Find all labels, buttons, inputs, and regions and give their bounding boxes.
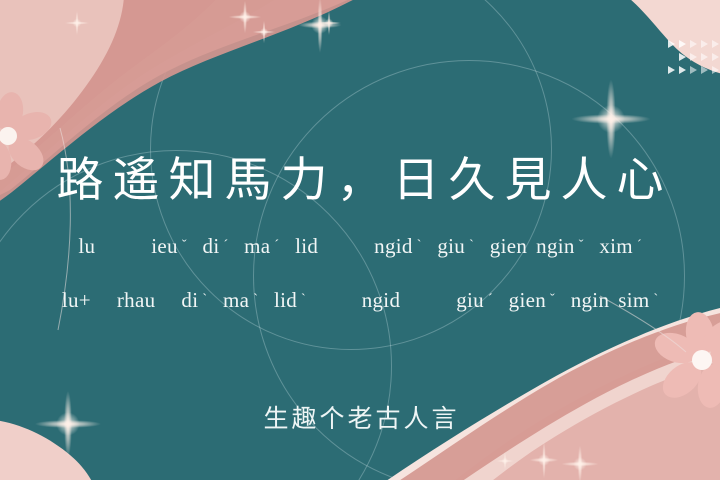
romanization-syllable: maˊ [244,236,279,257]
syllable-base: giu [456,290,484,311]
poster-canvas: 路遙知馬力，日久見人心 luieuˇdiˊmaˊlidngidˋgiuˋgien… [0,0,720,480]
syllable-base: di [181,290,198,311]
tone-mark: ˊ [223,239,228,253]
romanization-syllable: nginˇ [536,236,583,257]
tone-mark: ˊ [637,239,642,253]
syllable-base: gien [509,290,546,311]
tone-mark: ˇ [550,293,555,307]
text-content: 路遙知馬力，日久見人心 luieuˇdiˊmaˊlidngidˋgiuˋgien… [0,0,720,480]
romanization-syllable: ngin [571,290,610,311]
syllable-base: ma [223,290,249,311]
romanization-syllable: gien [490,236,527,257]
romanization-syllable: ieuˇ [151,236,186,257]
syllable-base: lid [274,290,297,311]
romanization-syllable: gienˇ [509,290,555,311]
romanization-syllable: diˋ [181,290,207,311]
romanization-syllable: lu [78,236,95,257]
romanization-syllable: giuˋ [437,236,473,257]
syllable-base: giu [437,236,465,257]
syllable-base: ngid [374,236,413,257]
tone-mark: ˋ [301,293,306,307]
syllable-base: xim [599,236,633,257]
syllable-base: ngin [536,236,575,257]
romanization-syllable: diˊ [203,236,229,257]
tone-mark: ˋ [253,293,258,307]
syllable-base: di [203,236,220,257]
syllable-base: lu+ [62,290,91,311]
romanization-syllable: maˋ [223,290,258,311]
tone-mark: ˇ [579,239,584,253]
romanization-row-hailu: lu+rhaudiˋmaˋlidˋngidgiuˊgienˇnginsimˋ [0,290,720,311]
romanization-syllable: giuˊ [456,290,492,311]
romanization-syllable: ngidˋ [374,236,421,257]
romanization-syllable: rhau [117,290,156,311]
romanization-syllable: simˋ [618,290,658,311]
syllable-base: ieu [151,236,178,257]
syllable-base: ngin [571,290,610,311]
syllable-base: lu [78,236,95,257]
romanization-syllable: lid [295,236,318,257]
tone-mark: ˋ [654,293,659,307]
syllable-base: ngid [362,290,401,311]
tone-mark: ˋ [202,293,207,307]
romanization-syllable: lidˋ [274,290,306,311]
headline-proverb: 路遙知馬力，日久見人心 [0,158,720,205]
tone-mark: ˊ [488,293,493,307]
tone-mark: ˋ [469,239,474,253]
romanization-syllable: ximˊ [599,236,641,257]
syllable-base: ma [244,236,270,257]
tone-mark: ˋ [417,239,422,253]
syllable-base: sim [618,290,649,311]
syllable-base: gien [490,236,527,257]
romanization-syllable: ngid [362,290,401,311]
romanization-syllable: lu+ [62,290,91,311]
syllable-base: lid [295,236,318,257]
tone-mark: ˇ [182,239,187,253]
syllable-base: rhau [117,290,156,311]
caption-text: 生趣个老古人言 [0,407,720,432]
romanization-row-sixian: luieuˇdiˊmaˊlidngidˋgiuˋgiennginˇximˊ [0,236,720,257]
tone-mark: ˊ [274,239,279,253]
